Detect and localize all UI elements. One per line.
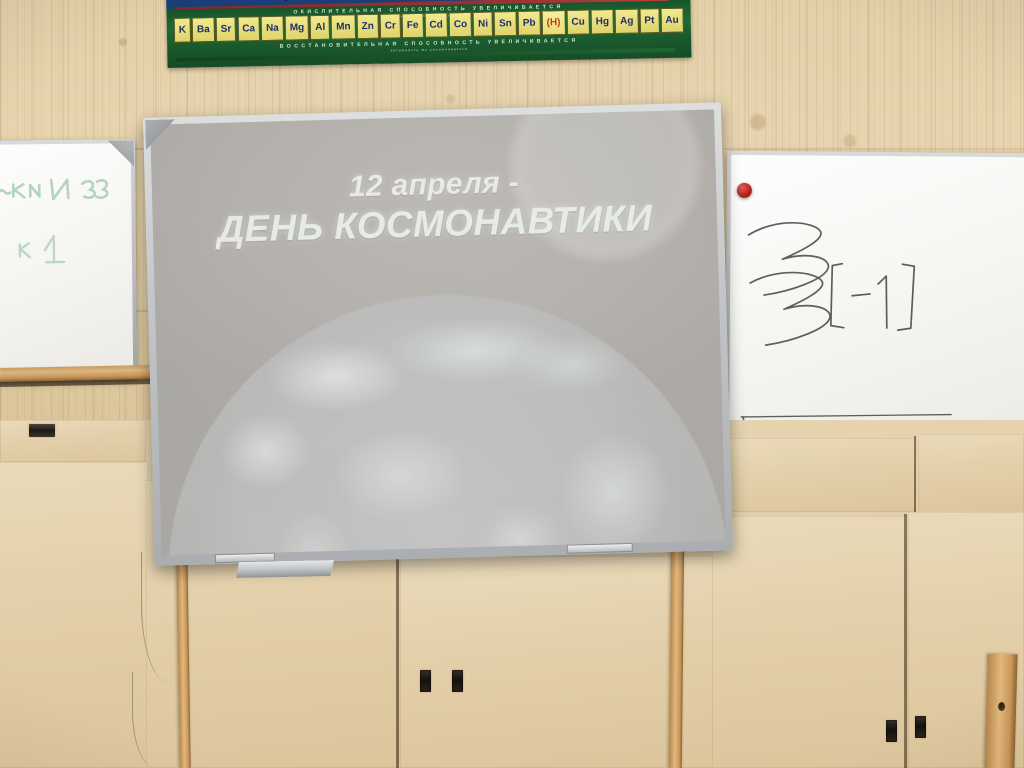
cabinet-handle-1[interactable] (420, 670, 431, 692)
red-magnet-icon[interactable] (737, 183, 752, 198)
cabinet-panel-upper-right-b (918, 434, 1024, 514)
metal-cell-ba: Ba (192, 17, 215, 42)
metal-cell-na: Na (261, 16, 284, 41)
wood-post-right (984, 654, 1017, 768)
metal-cell-fe: Fe (402, 13, 424, 38)
projection-screen-surface[interactable]: 12 апреля - ДЕНЬ КОСМОНАВТИКИ (150, 110, 725, 556)
classroom-photo-scene: Электрохимический ряд напряжений металло… (0, 0, 1024, 768)
cabinet-handle-3[interactable] (886, 720, 897, 742)
slide-title-block: 12 апреля - ДЕНЬ КОСМОНАВТИКИ (152, 162, 718, 252)
metal-cell-zn: Zn (356, 14, 379, 39)
metal-cell-cd: Cd (424, 12, 448, 37)
metal-cell-mg: Mg (285, 15, 310, 40)
cabinet-panel-left[interactable] (0, 462, 148, 768)
metal-cell-h: (H) (541, 10, 565, 35)
metal-cell-au: Au (660, 8, 684, 33)
whiteboard-right-handwriting (729, 155, 1024, 453)
cabinet-panel-upper-left (0, 420, 146, 462)
metal-cell-sr: Sr (216, 17, 237, 42)
metal-cell-cu: Cu (566, 10, 590, 35)
projection-screen-whiteboard[interactable]: 12 апреля - ДЕНЬ КОСМОНАВТИКИ (143, 102, 733, 565)
electrochemical-series-poster: Электрохимический ряд напряжений металло… (166, 0, 692, 68)
metal-cell-co: Co (449, 12, 473, 37)
whiteboard-right-surface[interactable] (729, 155, 1024, 453)
metal-cell-ca: Ca (237, 16, 260, 41)
screen-clip-right (567, 543, 633, 554)
cabinet-seam-right (904, 514, 907, 768)
whiteboard-left-handwriting (0, 143, 141, 385)
marker-tray[interactable] (236, 560, 334, 578)
metal-cell-ni: Ni (473, 11, 493, 36)
whiteboard-right[interactable] (725, 151, 1024, 457)
cabinet-handle-4[interactable] (915, 716, 926, 738)
post-hole (998, 702, 1005, 711)
metal-cell-mn: Mn (331, 14, 356, 39)
cabinet-seam-center (396, 556, 399, 768)
metal-cell-al: Al (310, 15, 330, 40)
wood-post-center (669, 536, 684, 768)
metal-cell-ag: Ag (615, 9, 639, 34)
metal-cell-hg: Hg (591, 9, 615, 34)
cabinet-panel-right-left[interactable] (712, 516, 908, 768)
slide-earth-globe (161, 287, 726, 555)
cabinet-seam-upper-right (914, 436, 916, 514)
metal-cell-pb: Pb (518, 10, 541, 35)
cabinet-latch-left[interactable] (29, 424, 55, 437)
metal-cell-pt: Pt (639, 8, 659, 33)
cabinet-panel-upper-right-a (716, 438, 916, 512)
whiteboard-left-surface[interactable] (0, 143, 133, 376)
metal-cell-cr: Cr (380, 13, 401, 38)
metal-cell-sn: Sn (494, 11, 517, 36)
metal-cell-k: K (174, 18, 192, 43)
cabinet-handle-2[interactable] (452, 670, 463, 692)
whiteboard-left[interactable] (0, 139, 137, 381)
